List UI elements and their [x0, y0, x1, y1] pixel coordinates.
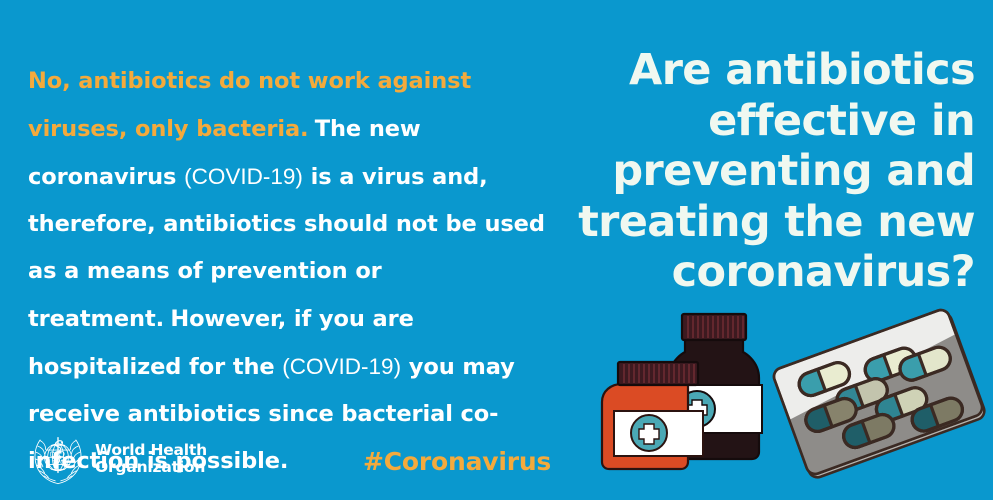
who-logo-lockup: World Health Organization: [30, 431, 207, 487]
headline: Are antibiotics effective in preventing …: [555, 45, 975, 298]
paragraph-3-covid-label: (COVID-19): [282, 354, 401, 379]
headline-line: preventing and: [555, 146, 975, 197]
who-wordmark-line2: Organization: [95, 459, 207, 477]
medicine-illustration: [600, 296, 993, 500]
who-wordmark-line1: World Health: [95, 442, 207, 460]
body-copy: No, antibiotics do not work against viru…: [28, 58, 548, 485]
hashtag-coronavirus: #Coronavirus: [363, 447, 551, 476]
poster-root: No, antibiotics do not work against viru…: [0, 0, 993, 500]
who-emblem-icon: [30, 431, 86, 487]
answer-paragraph: No, antibiotics do not work against viru…: [28, 58, 548, 485]
orange-medicine-bottle-icon: [602, 362, 703, 469]
medicine-illustration-svg: [600, 296, 993, 500]
who-wordmark: World Health Organization: [95, 442, 207, 477]
headline-line: treating the new: [555, 197, 975, 248]
headline-line: Are antibiotics: [555, 45, 975, 96]
headline-line: coronavirus?: [555, 247, 975, 298]
blister-pack-icon: [755, 302, 993, 496]
headline-line: effective in: [555, 96, 975, 147]
paragraph-2-covid-label: (COVID-19): [184, 164, 303, 189]
